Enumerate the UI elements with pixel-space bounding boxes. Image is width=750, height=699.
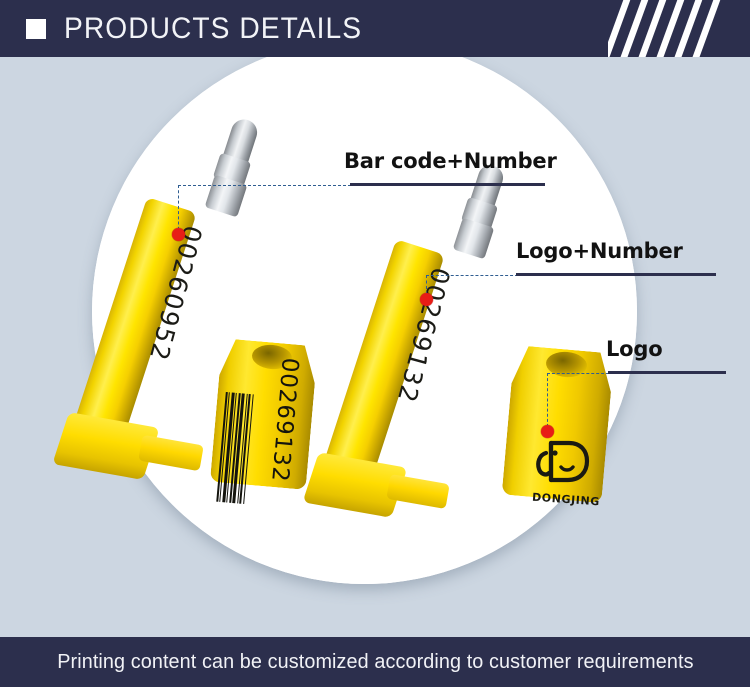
- dongjing-logo-icon: [533, 435, 593, 491]
- marker-dot-logo: [541, 425, 554, 438]
- marker-dot-logonumber: [420, 293, 433, 306]
- callout-label-logonumber: Logo+Number: [516, 239, 683, 263]
- footer-text: Printing content can be customized accor…: [57, 651, 693, 674]
- callout-label-logo: Logo: [606, 337, 662, 361]
- callout-underline-logo: [608, 371, 726, 374]
- product-stage: 00260952 00269132 00269132: [0, 57, 750, 637]
- callout-underline-logonumber: [516, 273, 716, 276]
- page-title: PRODUCTS DETAILS: [64, 12, 362, 46]
- leader-line-logo-horizontal: [547, 373, 609, 374]
- page-footer: Printing content can be customized accor…: [0, 637, 750, 687]
- page-header: PRODUCTS DETAILS: [0, 0, 750, 57]
- marker-dot-barcode: [172, 228, 185, 241]
- leader-line-barcode-horizontal: [178, 185, 351, 186]
- callout-underline-barcode: [350, 183, 545, 186]
- leader-line-logonumber-horizontal: [426, 275, 518, 276]
- diagonal-stripes-icon: [608, 0, 728, 57]
- callout-label-barcode: Bar code+Number: [344, 149, 557, 173]
- square-bullet-icon: [26, 19, 46, 39]
- leader-line-logo-vertical: [547, 373, 548, 432]
